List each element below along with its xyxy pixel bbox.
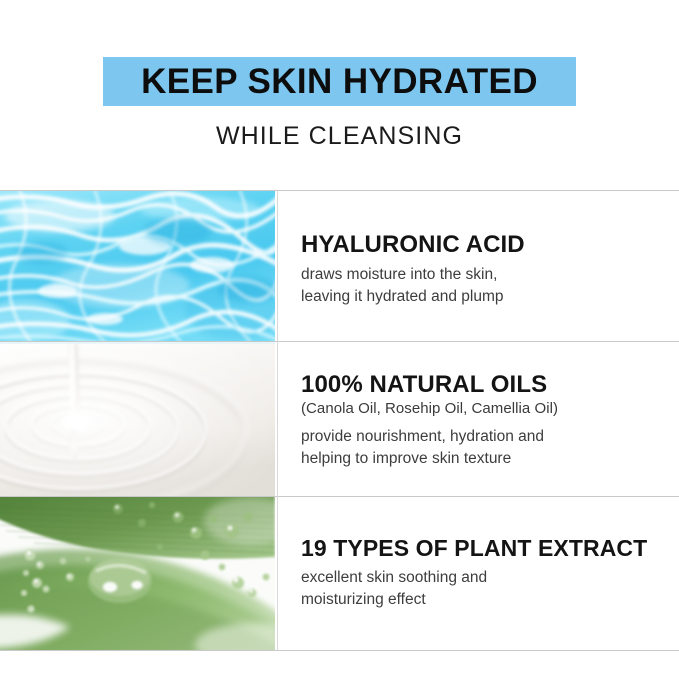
feature-copy-hyaluronic-acid: HYALURONIC ACID draws moisture into the …: [301, 191, 671, 345]
feature-row-plant-extract: 19 TYPES OF PLANT EXTRACT excellent skin…: [0, 497, 679, 650]
feature-body-line: helping to improve skin texture: [301, 448, 671, 470]
feature-body: draws moisture into the skin, leaving it…: [301, 264, 671, 308]
feature-copy-plant-extract: 19 TYPES OF PLANT EXTRACT excellent skin…: [301, 497, 671, 650]
milk-droplet-photo: [0, 342, 275, 496]
water-ripple-photo: [0, 191, 275, 341]
feature-headline: 19 TYPES OF PLANT EXTRACT: [301, 536, 671, 560]
feature-copy-natural-oils: 100% NATURAL OILS (Canola Oil, Rosehip O…: [301, 342, 671, 498]
divider-bottom: [0, 650, 679, 651]
title-banner: KEEP SKIN HYDRATED: [103, 57, 576, 106]
feature-body-line: leaving it hydrated and plump: [301, 286, 671, 308]
feature-body: provide nourishment, hydration and helpi…: [301, 426, 671, 470]
feature-body-line: provide nourishment, hydration and: [301, 426, 671, 448]
feature-body-line: moisturizing effect: [301, 589, 671, 611]
green-leaf-photo: [0, 497, 275, 650]
feature-body-line: draws moisture into the skin,: [301, 264, 671, 286]
feature-row-hyaluronic-acid: HYALURONIC ACID draws moisture into the …: [0, 191, 679, 341]
header-section: KEEP SKIN HYDRATED WHILE CLEANSING: [0, 0, 679, 190]
feature-headline: HYALURONIC ACID: [301, 232, 671, 257]
feature-headline: 100% NATURAL OILS: [301, 372, 671, 397]
feature-subline: (Canola Oil, Rosehip Oil, Camellia Oil): [301, 401, 671, 416]
infographic-page: KEEP SKIN HYDRATED WHILE CLEANSING: [0, 0, 679, 679]
feature-row-natural-oils: 100% NATURAL OILS (Canola Oil, Rosehip O…: [0, 342, 679, 496]
page-subtitle: WHILE CLEANSING: [0, 124, 679, 149]
page-title: KEEP SKIN HYDRATED: [141, 64, 538, 99]
feature-body: excellent skin soothing and moisturizing…: [301, 567, 671, 611]
feature-body-line: excellent skin soothing and: [301, 567, 671, 589]
